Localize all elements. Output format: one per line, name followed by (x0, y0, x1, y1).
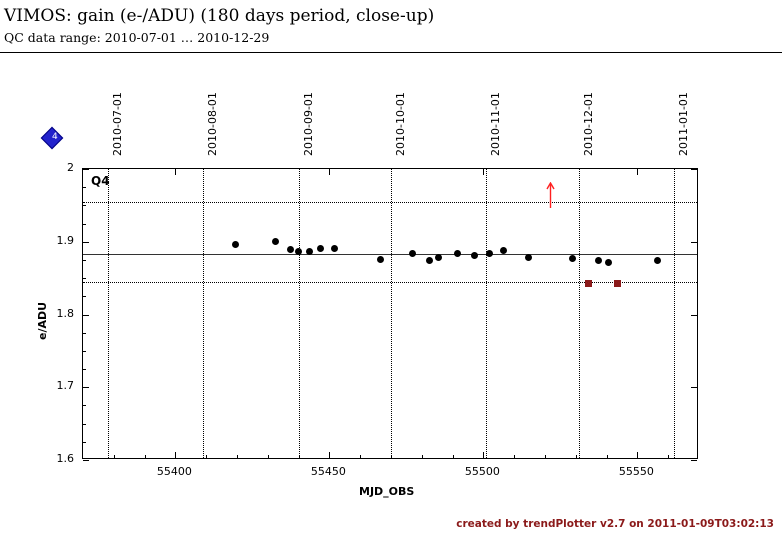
x-axis-minor-tick (576, 455, 577, 458)
legend-marker-label: 4 (52, 132, 58, 142)
vertical-gridline (108, 169, 109, 458)
y-axis-tick-right (691, 460, 697, 461)
y-axis-minor-tick (83, 424, 86, 425)
x-axis-minor-tick (668, 455, 669, 458)
x-axis-minor-tick (268, 455, 269, 458)
data-point-flagged (585, 280, 592, 287)
x-axis-title: MJD_OBS (359, 485, 414, 498)
vertical-gridline (203, 169, 204, 458)
y-tick-label: 1.6 (26, 452, 74, 465)
x-axis-minor-tick (453, 455, 454, 458)
y-axis-tick (83, 460, 89, 461)
vertical-gridline (391, 169, 392, 458)
chart-page: VIMOS: gain (e-/ADU) (180 days period, c… (0, 0, 782, 542)
y-tick-label: 1.9 (26, 234, 74, 247)
x-axis-tick (329, 452, 330, 458)
x-axis-minor-tick (545, 455, 546, 458)
y-axis-title: e/ADU (36, 302, 49, 340)
x-axis-minor-tick (360, 455, 361, 458)
data-point (426, 257, 433, 264)
y-tick-label: 1.7 (26, 379, 74, 392)
data-point (409, 250, 416, 257)
x-axis-tick (175, 452, 176, 458)
y-axis-tick (83, 387, 89, 388)
data-point (454, 250, 461, 257)
data-point (377, 256, 384, 263)
x-axis-minor-tick (114, 455, 115, 458)
date-gridline-label: 2010-07-01 (111, 92, 124, 156)
y-axis-tick-right (691, 242, 697, 243)
x-axis-tick-top (175, 169, 176, 175)
threshold-line (83, 282, 697, 283)
vertical-gridline (674, 169, 675, 458)
x-axis-minor-tick (145, 455, 146, 458)
data-point (287, 246, 294, 253)
page-subtitle: QC data range: 2010-07-01 … 2010-12-29 (4, 30, 269, 45)
data-point (317, 245, 324, 252)
data-point (569, 255, 576, 262)
x-axis-minor-tick (607, 455, 608, 458)
y-axis-tick (83, 242, 89, 243)
y-axis-minor-tick (83, 405, 86, 406)
y-axis-tick-right (691, 315, 697, 316)
y-axis-minor-tick (83, 333, 86, 334)
x-axis-tick-top (329, 169, 330, 175)
data-point (435, 254, 442, 261)
y-axis-tick (83, 169, 89, 170)
x-tick-label: 55450 (298, 465, 358, 478)
x-axis-minor-tick (206, 455, 207, 458)
y-axis-minor-tick (83, 260, 86, 261)
date-gridline-label: 2010-09-01 (302, 92, 315, 156)
x-axis-minor-tick (514, 455, 515, 458)
vertical-gridline (299, 169, 300, 458)
x-axis-tick (637, 452, 638, 458)
data-point (525, 254, 532, 261)
footer-credit: created by trendPlotter v2.7 on 2011-01-… (456, 518, 774, 530)
x-axis-minor-tick (422, 455, 423, 458)
data-point (605, 259, 612, 266)
page-title: VIMOS: gain (e-/ADU) (180 days period, c… (4, 6, 434, 26)
data-point (272, 238, 279, 245)
data-point-flagged (614, 280, 621, 287)
plot-area: Q4 (82, 168, 698, 459)
x-tick-label: 55550 (606, 465, 666, 478)
x-axis-minor-tick (299, 455, 300, 458)
y-axis-tick-right (691, 387, 697, 388)
vertical-gridline (579, 169, 580, 458)
data-point (486, 250, 493, 257)
y-axis-tick-right (691, 169, 697, 170)
date-gridline-label: 2011-01-01 (677, 92, 690, 156)
y-axis-minor-tick (83, 187, 86, 188)
plot-inner: Q4 (83, 169, 697, 458)
x-tick-label: 55500 (452, 465, 512, 478)
header-divider (0, 52, 782, 53)
y-axis-tick (83, 315, 89, 316)
y-tick-label: 2 (26, 161, 74, 174)
y-axis-minor-tick (83, 224, 86, 225)
data-point (595, 257, 602, 264)
y-axis-minor-tick (83, 369, 86, 370)
out-of-range-arrow-icon (546, 182, 555, 212)
x-axis-tick (483, 452, 484, 458)
x-axis-tick-top (483, 169, 484, 175)
date-gridline-label: 2010-08-01 (206, 92, 219, 156)
y-axis-minor-tick (83, 442, 86, 443)
x-axis-minor-tick (391, 455, 392, 458)
date-gridline-label: 2010-11-01 (489, 92, 502, 156)
y-axis-minor-tick (83, 205, 86, 206)
date-gridline-label: 2010-12-01 (582, 92, 595, 156)
x-axis-minor-tick (237, 455, 238, 458)
data-point (232, 241, 239, 248)
y-axis-minor-tick (83, 296, 86, 297)
date-gridline-label: 2010-10-01 (394, 92, 407, 156)
threshold-line (83, 202, 697, 203)
data-point (471, 252, 478, 259)
y-axis-minor-tick (83, 278, 86, 279)
data-point (500, 247, 507, 254)
y-axis-minor-tick (83, 351, 86, 352)
mean-reference-line (83, 254, 697, 255)
y-tick-label: 1.8 (26, 307, 74, 320)
x-axis-tick-top (637, 169, 638, 175)
x-tick-label: 55400 (144, 465, 204, 478)
data-point (331, 245, 338, 252)
data-point (654, 257, 661, 264)
vertical-gridline (486, 169, 487, 458)
